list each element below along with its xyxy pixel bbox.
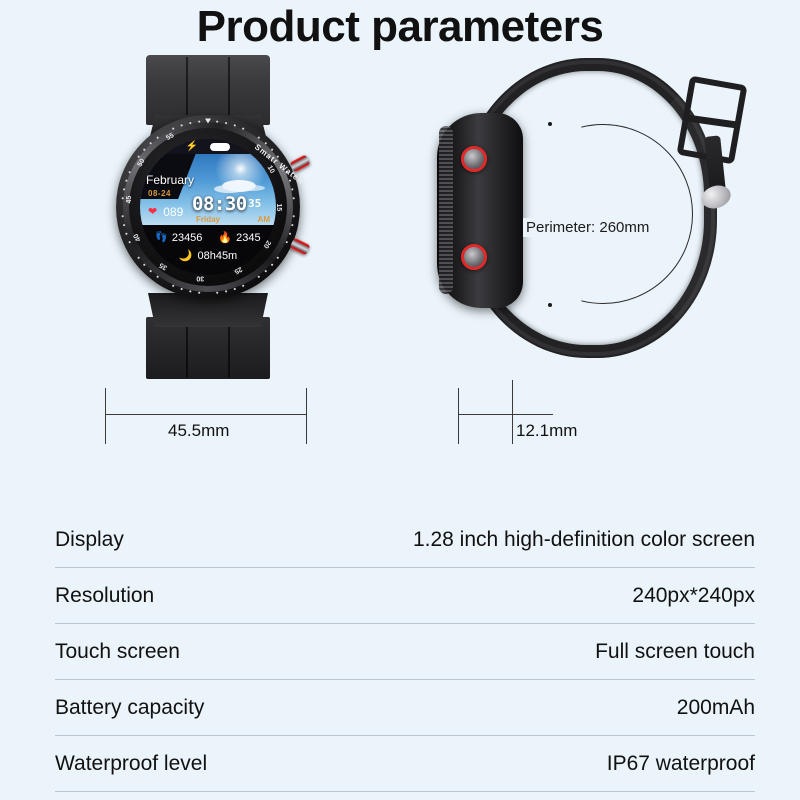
status-bar: ⚡ xyxy=(162,139,254,154)
calories-value: 2345 xyxy=(236,232,260,244)
watch-screen[interactable]: ⚡ February 08-24 ❤ 089 08:30 35 Friday A… xyxy=(140,139,276,275)
footsteps-icon: 👣 xyxy=(155,232,167,243)
bezel-tick-dot xyxy=(138,156,140,158)
table-row: Touch screenFull screen touch xyxy=(55,624,755,680)
bezel-tick-dot xyxy=(242,128,244,130)
table-row: Display1.28 inch high-definition color s… xyxy=(55,512,755,568)
bezel-tick-dot xyxy=(172,285,174,287)
bezel-tick-dot xyxy=(291,188,293,190)
perimeter-label: Perimeter: 260mm xyxy=(523,218,652,237)
date-label: 08-24 xyxy=(148,189,171,198)
bezel-tick-dot xyxy=(125,233,127,235)
spec-value: 240px*240px xyxy=(632,584,755,608)
bezel-tick-dot xyxy=(198,121,200,123)
bezel-tick-dot xyxy=(216,292,218,294)
spec-key: Display xyxy=(55,528,124,552)
crown-button-lower[interactable] xyxy=(289,238,310,256)
product-parameters-page: Product parameters 10152025303540455055 … xyxy=(0,0,800,800)
spec-value: IP67 waterproof xyxy=(607,752,755,776)
bezel-tick-dot xyxy=(157,137,159,139)
steps-value: 23456 xyxy=(172,232,203,244)
bezel-tick-dot xyxy=(181,124,183,126)
bezel-tick-dot xyxy=(271,264,273,266)
bezel-tick-dot xyxy=(138,257,140,259)
spec-key: Waterproof level xyxy=(55,752,207,776)
bezel-tick-dot xyxy=(143,264,145,266)
table-row: Resolution240px*240px xyxy=(55,568,755,624)
bezel-tick-dot xyxy=(216,121,218,123)
bezel-tick-dot xyxy=(291,224,293,226)
case-edge-texture xyxy=(439,126,453,294)
side-crown-lower[interactable] xyxy=(461,244,487,270)
bezel-tick-dot xyxy=(143,149,145,151)
spec-key: Resolution xyxy=(55,584,154,608)
sleep-stat: 🌙 08h45m xyxy=(140,249,276,262)
width-dimension-label: 45.5mm xyxy=(168,421,229,441)
calories-stat: 🔥 2345 xyxy=(218,231,260,244)
bezel-tick-dot xyxy=(265,142,267,144)
bezel-tick-dot xyxy=(293,215,295,217)
bezel-tick-dot xyxy=(123,188,125,190)
bezel-tick-dot xyxy=(123,224,125,226)
bezel-tick-dot xyxy=(198,292,200,294)
spec-value: 200mAh xyxy=(677,696,755,720)
bezel-number: 45 xyxy=(126,196,133,204)
spec-key: Battery capacity xyxy=(55,696,204,720)
bezel-tick-dot xyxy=(150,270,152,272)
bezel-tick-dot xyxy=(189,290,191,292)
bezel-number: 15 xyxy=(275,204,282,212)
bezel-tick-dot xyxy=(258,276,260,278)
thickness-ext-line-left xyxy=(458,388,459,444)
bezel-tick-dot xyxy=(289,233,291,235)
bezel-tick-dot xyxy=(289,180,291,182)
seconds-value: 35 xyxy=(248,197,261,210)
bezel-tick-dot xyxy=(129,241,131,243)
spec-value: 1.28 inch high-definition color screen xyxy=(413,528,755,552)
bezel-tick-dot xyxy=(129,171,131,173)
bezel-index-marker xyxy=(205,119,211,124)
bezel-tick-dot xyxy=(265,270,267,272)
bezel-tick-dot xyxy=(150,142,152,144)
moon-icon: 🌙 xyxy=(179,249,193,262)
bezel-tick-dot xyxy=(242,285,244,287)
width-ext-line-right xyxy=(306,388,307,444)
bezel-tick-dot xyxy=(172,128,174,130)
bezel-tick-dot xyxy=(271,149,273,151)
specification-table: Display1.28 inch high-definition color s… xyxy=(55,512,755,792)
bezel-tick-dot xyxy=(258,137,260,139)
watch-case: 10152025303540455055 Smatr Watch ⚡ Febru… xyxy=(116,115,300,299)
steps-stat: 👣 23456 xyxy=(155,231,202,244)
thickness-dimension-label: 12.1mm xyxy=(516,421,577,441)
bezel-number: 30 xyxy=(196,275,204,282)
page-title: Product parameters xyxy=(0,2,800,52)
thickness-dim-line xyxy=(458,414,553,415)
bezel-tick-dot xyxy=(225,122,227,124)
bezel-tick-dot xyxy=(157,276,159,278)
bezel-tick-dot xyxy=(293,197,295,199)
bezel-tick-dot xyxy=(122,197,124,199)
perimeter-dot-top xyxy=(548,122,552,126)
thickness-ext-line-right xyxy=(512,380,513,444)
spec-key: Touch screen xyxy=(55,640,180,664)
weekday-label: Friday xyxy=(196,215,220,224)
perimeter-dot-bottom xyxy=(548,303,552,307)
width-ext-line-left xyxy=(105,388,106,444)
heart-rate-value: 089 xyxy=(163,205,183,219)
table-row: Waterproof levelIP67 waterproof xyxy=(55,736,755,792)
bezel-tick-dot xyxy=(286,241,288,243)
spec-value: Full screen touch xyxy=(595,640,755,664)
bezel-tick-dot xyxy=(181,288,183,290)
bezel-tick-dot xyxy=(234,288,236,290)
battery-icon xyxy=(210,143,230,151)
width-dim-line xyxy=(105,414,307,415)
stats-row: 👣 23456 🔥 2345 xyxy=(140,231,276,244)
smartwatch-front-view: 10152025303540455055 Smatr Watch ⚡ Febru… xyxy=(108,55,308,375)
heart-icon: ❤ xyxy=(148,207,157,218)
bezel-tick-dot xyxy=(125,180,127,182)
heart-rate-row: ❤ 089 xyxy=(148,205,183,219)
sleep-value: 08h45m xyxy=(197,250,237,262)
bezel-tick-dot xyxy=(277,257,279,259)
month-label: February xyxy=(146,173,194,187)
bezel-tick-dot xyxy=(234,124,236,126)
meridiem-label: AM xyxy=(258,215,270,224)
bezel-tick-dot xyxy=(122,215,124,217)
lightning-bolt-icon: ⚡ xyxy=(186,142,198,152)
bezel-tick-dot xyxy=(189,122,191,124)
bezel-tick-dot xyxy=(225,290,227,292)
smartwatch-side-view: Perimeter: 260mm xyxy=(435,58,755,388)
flame-icon: 🔥 xyxy=(218,231,232,244)
table-row: Battery capacity200mAh xyxy=(55,680,755,736)
day-meridiem-row: Friday AM xyxy=(196,215,270,224)
time-value: 08:30 xyxy=(192,193,247,215)
crown-button-upper[interactable] xyxy=(289,154,310,172)
side-crown-upper[interactable] xyxy=(461,146,487,172)
